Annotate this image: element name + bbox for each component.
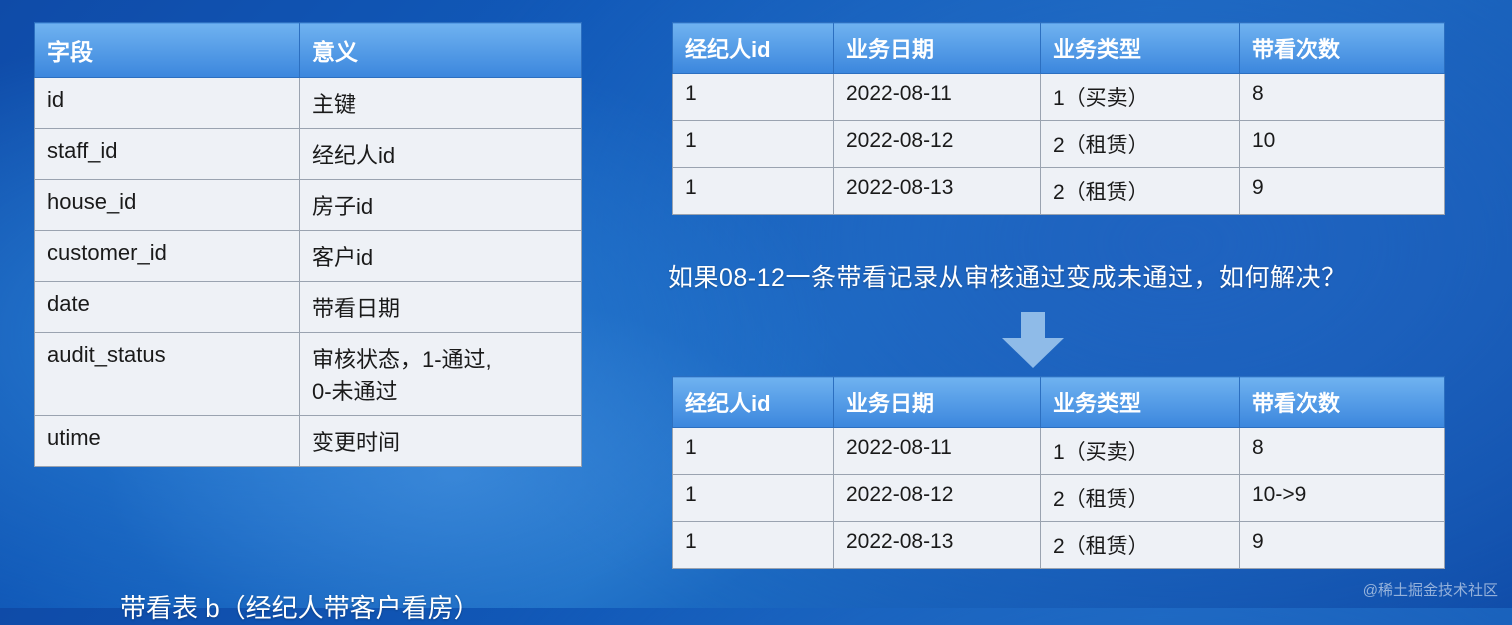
cell-business-type: 1（买卖） bbox=[1041, 428, 1240, 475]
column-header-agent-id: 经纪人id bbox=[673, 23, 834, 74]
table-header-row: 经纪人id 业务日期 业务类型 带看次数 bbox=[673, 377, 1445, 428]
field-name-cell: customer_id bbox=[35, 231, 300, 282]
cell-agent-id: 1 bbox=[673, 168, 834, 215]
cell-business-date: 2022-08-12 bbox=[834, 475, 1041, 522]
stats-table-after-header: 经纪人id 业务日期 业务类型 带看次数 bbox=[673, 377, 1445, 428]
column-header-field: 字段 bbox=[35, 23, 300, 78]
watermark: @稀土掘金技术社区 bbox=[1363, 579, 1498, 600]
column-header-business-date: 业务日期 bbox=[834, 23, 1041, 74]
column-header-business-type: 业务类型 bbox=[1041, 377, 1240, 428]
field-name-cell: staff_id bbox=[35, 129, 300, 180]
field-meaning-cell: 主键 bbox=[300, 78, 582, 129]
stats-table-before-header: 经纪人id 业务日期 业务类型 带看次数 bbox=[673, 23, 1445, 74]
field-meaning-cell: 经纪人id bbox=[300, 129, 582, 180]
cell-agent-id: 1 bbox=[673, 475, 834, 522]
question-text: 如果08-12一条带看记录从审核通过变成未通过，如何解决？ bbox=[668, 258, 1346, 294]
table-row: 1 2022-08-12 2（租赁） 10 bbox=[673, 121, 1445, 168]
field-name-cell: audit_status bbox=[35, 333, 300, 416]
table-row-highlighted: audit_status 审核状态，1-通过, 0-未通过 bbox=[35, 333, 582, 416]
column-header-agent-id: 经纪人id bbox=[673, 377, 834, 428]
cell-business-date: 2022-08-11 bbox=[834, 74, 1041, 121]
column-header-view-count: 带看次数 bbox=[1240, 23, 1445, 74]
cell-business-type: 2（租赁） bbox=[1041, 168, 1240, 215]
down-arrow-icon bbox=[996, 312, 1070, 368]
field-meaning-cell: 客户id bbox=[300, 231, 582, 282]
cell-view-count-changed: 10->9 bbox=[1240, 475, 1445, 522]
stats-table-before: 经纪人id 业务日期 业务类型 带看次数 1 2022-08-11 1（买卖） … bbox=[672, 22, 1445, 215]
cell-business-type: 1（买卖） bbox=[1041, 74, 1240, 121]
table-row: utime 变更时间 bbox=[35, 416, 582, 467]
cell-business-date: 2022-08-12 bbox=[834, 121, 1041, 168]
stats-table-before-body: 1 2022-08-11 1（买卖） 8 1 2022-08-12 2（租赁） … bbox=[673, 74, 1445, 215]
field-meaning-cell: 房子id bbox=[300, 180, 582, 231]
cell-business-date: 2022-08-13 bbox=[834, 168, 1041, 215]
table-row: date 带看日期 bbox=[35, 282, 582, 333]
cell-business-date: 2022-08-13 bbox=[834, 522, 1041, 569]
field-name-cell: date bbox=[35, 282, 300, 333]
cell-view-count: 9 bbox=[1240, 522, 1445, 569]
column-header-view-count: 带看次数 bbox=[1240, 377, 1445, 428]
field-table-body: id 主键 staff_id 经纪人id house_id 房子id custo… bbox=[35, 78, 582, 467]
table-row: 1 2022-08-12 2（租赁） 10->9 bbox=[673, 475, 1445, 522]
stats-table-after-body: 1 2022-08-11 1（买卖） 8 1 2022-08-12 2（租赁） … bbox=[673, 428, 1445, 569]
field-definition-table-container: 字段 意义 id 主键 staff_id 经纪人id house_id 房子id… bbox=[34, 22, 582, 467]
table-header-row: 经纪人id 业务日期 业务类型 带看次数 bbox=[673, 23, 1445, 74]
field-meaning-cell: 变更时间 bbox=[300, 416, 582, 467]
cell-view-count: 10 bbox=[1240, 121, 1445, 168]
field-name-cell: id bbox=[35, 78, 300, 129]
table-header-row: 字段 意义 bbox=[35, 23, 582, 78]
field-table-header: 字段 意义 bbox=[35, 23, 582, 78]
cell-agent-id: 1 bbox=[673, 74, 834, 121]
cell-agent-id: 1 bbox=[673, 121, 834, 168]
field-name-cell: utime bbox=[35, 416, 300, 467]
cell-business-date: 2022-08-11 bbox=[834, 428, 1041, 475]
column-header-business-type: 业务类型 bbox=[1041, 23, 1240, 74]
field-meaning-cell: 带看日期 bbox=[300, 282, 582, 333]
table-row: id 主键 bbox=[35, 78, 582, 129]
column-header-meaning: 意义 bbox=[300, 23, 582, 78]
table-row-highlighted: 1 2022-08-13 2（租赁） 9 bbox=[673, 168, 1445, 215]
cell-business-type: 2（租赁） bbox=[1041, 475, 1240, 522]
field-definition-table: 字段 意义 id 主键 staff_id 经纪人id house_id 房子id… bbox=[34, 22, 582, 467]
cell-agent-id: 1 bbox=[673, 522, 834, 569]
column-header-business-date: 业务日期 bbox=[834, 377, 1041, 428]
table-row: staff_id 经纪人id bbox=[35, 129, 582, 180]
cell-business-type: 2（租赁） bbox=[1041, 121, 1240, 168]
table-row: house_id 房子id bbox=[35, 180, 582, 231]
field-meaning-cell: 审核状态，1-通过, 0-未通过 bbox=[300, 333, 582, 416]
cell-agent-id: 1 bbox=[673, 428, 834, 475]
cell-business-type: 2（租赁） bbox=[1041, 522, 1240, 569]
cell-view-count: 8 bbox=[1240, 74, 1445, 121]
table-row: 1 2022-08-11 1（买卖） 8 bbox=[673, 428, 1445, 475]
cell-view-count: 9 bbox=[1240, 168, 1445, 215]
stats-table-after: 经纪人id 业务日期 业务类型 带看次数 1 2022-08-11 1（买卖） … bbox=[672, 376, 1445, 569]
table-row: 1 2022-08-11 1（买卖） 8 bbox=[673, 74, 1445, 121]
bottom-caption: 带看表 b（经纪人带客户看房） bbox=[120, 588, 480, 625]
table-row-highlighted: 1 2022-08-13 2（租赁） 9 bbox=[673, 522, 1445, 569]
cell-view-count: 8 bbox=[1240, 428, 1445, 475]
field-name-cell: house_id bbox=[35, 180, 300, 231]
table-row: customer_id 客户id bbox=[35, 231, 582, 282]
